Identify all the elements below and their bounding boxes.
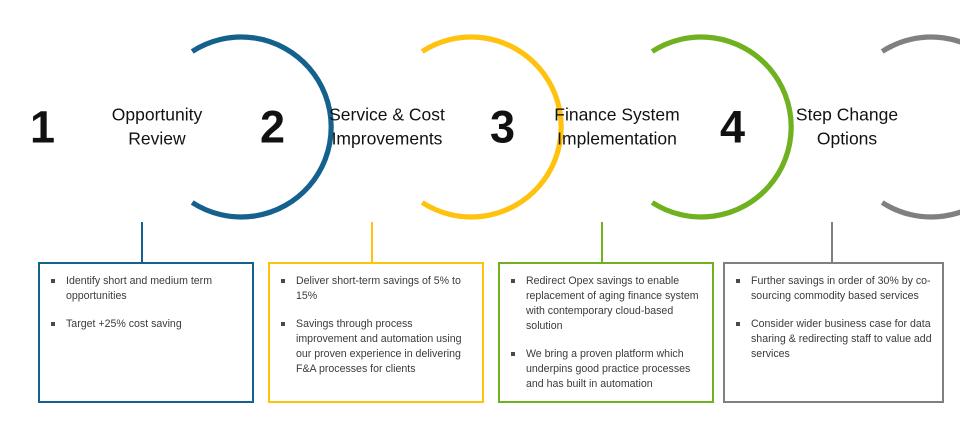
list-item: Further savings in order of 30% by co-so… [735,274,934,304]
bullet-square-icon [736,279,740,283]
step-2-title-line1: Service & Cost [312,103,462,127]
list-item: Identify short and medium term opportuni… [50,274,244,304]
step-1-number: 1 [30,105,55,150]
bullet-square-icon [51,279,55,283]
step-2-detail-box: Deliver short-term savings of 5% to 15% … [268,262,484,403]
step-2-bullet-list: Deliver short-term savings of 5% to 15% … [270,264,482,377]
step-4-bullet-2: Consider wider business case for data sh… [751,318,932,360]
step-4-connector [831,222,833,263]
step-4-title-line1: Step Change [772,103,922,127]
list-item: Savings through process improvement and … [280,317,474,377]
step-1-circle[interactable]: 1 Opportunity Review [46,31,238,223]
process-step-2: 2 Service & Cost Improvements Deliver sh… [246,0,484,422]
step-1-detail-box: Identify short and medium term opportuni… [38,262,254,403]
process-step-3: 3 Finance System Implementation Redirect… [476,0,714,422]
list-item: Target +25% cost saving [50,317,244,332]
step-1-bullet-1: Identify short and medium term opportuni… [66,275,212,302]
list-item: Redirect Opex savings to enable replacem… [510,274,704,334]
step-3-detail-box: Redirect Opex savings to enable replacem… [498,262,714,403]
step-1-connector [141,222,143,263]
step-2-bullet-1: Deliver short-term savings of 5% to 15% [296,275,461,302]
list-item: We bring a proven platform which underpi… [510,347,704,392]
step-1-bullet-2: Target +25% cost saving [66,318,182,330]
step-3-title: Finance System Implementation [542,103,692,150]
step-2-title: Service & Cost Improvements [312,103,462,150]
step-2-number: 2 [260,105,285,150]
step-4-detail-box: Further savings in order of 30% by co-so… [723,262,944,403]
step-4-bullet-1: Further savings in order of 30% by co-so… [751,275,931,302]
step-2-connector [371,222,373,263]
bullet-square-icon [736,322,740,326]
process-step-1: 1 Opportunity Review Identify short and … [16,0,254,422]
step-2-circle[interactable]: 2 Service & Cost Improvements [276,31,468,223]
step-1-title: Opportunity Review [82,103,232,150]
list-item: Deliver short-term savings of 5% to 15% [280,274,474,304]
list-item: Consider wider business case for data sh… [735,317,934,362]
step-3-circle[interactable]: 3 Finance System Implementation [506,31,698,223]
step-3-connector [601,222,603,263]
step-4-bullet-list: Further savings in order of 30% by co-so… [725,264,942,362]
step-1-title-line1: Opportunity [82,103,232,127]
bullet-square-icon [511,352,515,356]
process-step-4: 4 Step Change Options Further savings in… [706,0,944,422]
step-1-title-line2: Review [82,127,232,151]
step-4-circle[interactable]: 4 Step Change Options [736,31,928,223]
step-2-title-line2: Improvements [312,127,462,151]
bullet-square-icon [51,322,55,326]
step-3-bullet-1: Redirect Opex savings to enable replacem… [526,275,699,332]
bullet-square-icon [281,279,285,283]
bullet-square-icon [281,322,285,326]
step-3-bullet-list: Redirect Opex savings to enable replacem… [500,264,712,392]
step-4-number: 4 [720,105,745,150]
step-1-bullet-list: Identify short and medium term opportuni… [40,264,252,332]
step-4-title: Step Change Options [772,103,922,150]
bullet-square-icon [511,279,515,283]
step-4-title-line2: Options [772,127,922,151]
step-2-bullet-2: Savings through process improvement and … [296,318,461,375]
step-3-title-line2: Implementation [542,127,692,151]
step-3-bullet-2: We bring a proven platform which underpi… [526,348,690,390]
process-diagram: 1 Opportunity Review Identify short and … [0,0,960,422]
step-3-title-line1: Finance System [542,103,692,127]
step-3-number: 3 [490,105,515,150]
